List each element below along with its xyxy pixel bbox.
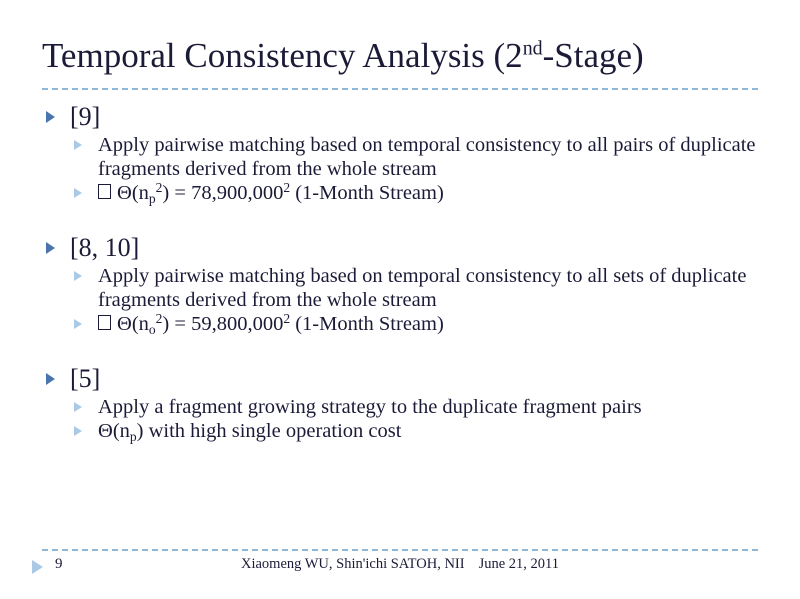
title-divider [42, 88, 758, 90]
footer-divider [42, 549, 758, 551]
group-spacer [42, 205, 758, 231]
bullet-level1-label: [9] [70, 102, 100, 131]
bullet-level2-label: Apply a fragment growing strategy to the… [98, 395, 758, 419]
missing-glyph-box-icon [98, 184, 111, 199]
formula-variable: n [120, 420, 130, 442]
formula-value: 78,900,000 [191, 182, 283, 204]
formula-open-paren: ( [132, 182, 139, 204]
triangle-bullet-icon [74, 271, 82, 281]
formula-value: 59,800,000 [191, 313, 283, 335]
formula-suffix: (1-Month Stream) [290, 182, 444, 204]
formula-subscript: p [130, 429, 137, 444]
triangle-bullet-icon [74, 319, 82, 329]
formula-variable: n [139, 313, 149, 335]
footer-center: Xiaomeng WU, Shin'ichi SATOH, NIIJune 21… [0, 556, 800, 573]
footer-authors: Xiaomeng WU, Shin'ichi SATOH, NII [241, 556, 465, 572]
bullet-level2-label: Apply pairwise matching based on tempora… [98, 133, 758, 181]
page-title: Temporal Consistency Analysis (2nd-Stage… [42, 34, 758, 78]
formula-suffix: with high single operation cost [143, 420, 401, 442]
formula-equals: = [169, 182, 191, 204]
triangle-bullet-icon [74, 188, 82, 198]
group-spacer [42, 336, 758, 362]
bullet-level1-label: [5] [70, 364, 100, 393]
missing-glyph-box-icon [98, 315, 111, 330]
bullet-group-3: [5] Apply a fragment growing strategy to… [42, 362, 758, 443]
formula-subscript: p [149, 191, 156, 206]
bullet-level1-ref-5: [5] [42, 362, 758, 395]
bullet-level2-item: Apply a fragment growing strategy to the… [42, 395, 758, 419]
complexity-formula: Θ(np2) = 78,900,0002 (1-Month Stream) [98, 181, 758, 205]
page-title-superscript: nd [523, 37, 543, 59]
bullet-level2-item: Apply pairwise matching based on tempora… [42, 264, 758, 312]
complexity-formula: Θ(np) with high single operation cost [98, 419, 758, 443]
theta-symbol: Θ [117, 313, 132, 335]
formula-open-paren: ( [132, 313, 139, 335]
bullet-level2-formula: Θ(np2) = 78,900,0002 (1-Month Stream) [42, 181, 758, 205]
bullet-group-2: [8, 10] Apply pairwise matching based on… [42, 231, 758, 336]
bullet-level2-formula: Θ(np) with high single operation cost [42, 419, 758, 443]
complexity-formula: Θ(no2) = 59,800,0002 (1-Month Stream) [98, 312, 758, 336]
triangle-bullet-icon [46, 242, 55, 254]
page-title-main: Temporal Consistency Analysis (2 [42, 36, 523, 75]
formula-suffix: (1-Month Stream) [290, 313, 444, 335]
triangle-bullet-icon [46, 373, 55, 385]
bullet-level1-ref-9: [9] [42, 100, 758, 133]
triangle-bullet-icon [46, 111, 55, 123]
formula-variable: n [139, 182, 149, 204]
footer-date: June 21, 2011 [479, 556, 559, 572]
formula-open-paren: ( [113, 420, 120, 442]
bullet-level2-item: Apply pairwise matching based on tempora… [42, 133, 758, 181]
page-title-tail: -Stage) [543, 36, 644, 75]
bullet-level1-ref-8-10: [8, 10] [42, 231, 758, 264]
bullet-level2-formula: Θ(no2) = 59,800,0002 (1-Month Stream) [42, 312, 758, 336]
triangle-bullet-icon [74, 426, 82, 436]
formula-subscript: o [149, 322, 156, 337]
formula-equals: = [169, 313, 191, 335]
theta-symbol: Θ [117, 182, 132, 204]
triangle-bullet-icon [74, 140, 82, 150]
bullet-level1-label: [8, 10] [70, 233, 139, 262]
bullet-level2-label: Apply pairwise matching based on tempora… [98, 264, 758, 312]
slide: Temporal Consistency Analysis (2nd-Stage… [0, 0, 800, 599]
slide-footer: 9 Xiaomeng WU, Shin'ichi SATOH, NIIJune … [0, 553, 800, 583]
theta-symbol: Θ [98, 420, 113, 442]
bullet-group-1: [9] Apply pairwise matching based on tem… [42, 100, 758, 205]
triangle-bullet-icon [74, 402, 82, 412]
title-area: Temporal Consistency Analysis (2nd-Stage… [42, 34, 758, 86]
slide-body: [9] Apply pairwise matching based on tem… [42, 100, 758, 443]
